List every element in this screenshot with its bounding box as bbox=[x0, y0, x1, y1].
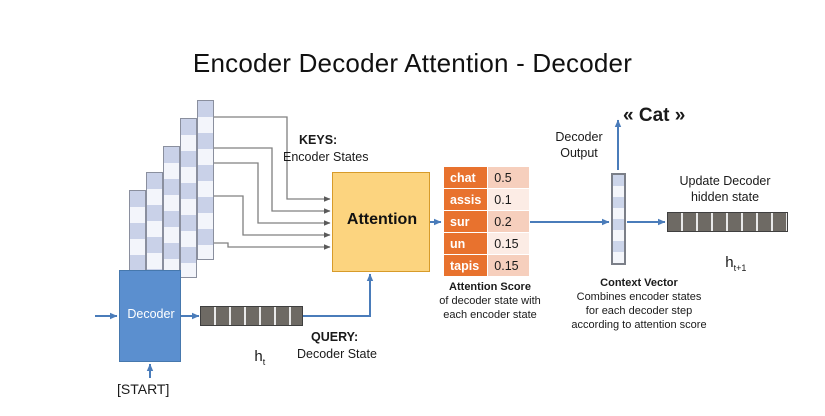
attention-block[interactable]: Attention bbox=[332, 172, 430, 272]
hidden-state-ht-label: ht bbox=[200, 330, 303, 385]
attention-score-caption-line2: of decoder state with bbox=[410, 295, 570, 308]
hidden-state-ht1-label: ht+1 bbox=[667, 236, 788, 291]
output-token-label: « Cat » bbox=[623, 105, 685, 127]
hidden-state-ht1-subscript: t+1 bbox=[734, 263, 747, 273]
context-vector-caption-line2: Combines encoder states bbox=[549, 291, 729, 304]
score-token: tapis bbox=[444, 255, 488, 277]
table-row: chat 0.5 bbox=[444, 167, 530, 189]
encoder-state-vector bbox=[197, 100, 214, 260]
score-token: un bbox=[444, 233, 488, 255]
hidden-state-vector-ht1 bbox=[667, 212, 788, 232]
encoder-state-vector bbox=[180, 118, 197, 278]
decoder-block-label: Decoder bbox=[120, 307, 182, 321]
query-label-subtitle: Decoder State bbox=[297, 347, 377, 362]
score-value: 0.15 bbox=[488, 255, 530, 277]
attention-block-label: Attention bbox=[333, 211, 431, 229]
attention-score-table: chat 0.5 assis 0.1 sur 0.2 un 0.15 tapis… bbox=[443, 166, 530, 277]
diagram-canvas: Encoder Decoder Attention - Decoder bbox=[0, 0, 825, 416]
score-value: 0.5 bbox=[488, 167, 530, 189]
hidden-state-ht-symbol: h bbox=[254, 348, 262, 365]
table-row: assis 0.1 bbox=[444, 189, 530, 211]
decoder-output-label-line2: Output bbox=[548, 146, 610, 161]
update-decoder-label-line1: Update Decoder bbox=[645, 174, 805, 189]
hidden-state-ht1-symbol: h bbox=[725, 254, 733, 271]
keys-label-title: KEYS: bbox=[299, 133, 337, 148]
score-token: sur bbox=[444, 211, 488, 233]
attention-score-caption-line3: each encoder state bbox=[410, 309, 570, 322]
hidden-state-ht-subscript: t bbox=[263, 357, 266, 367]
score-token: chat bbox=[444, 167, 488, 189]
table-row: tapis 0.15 bbox=[444, 255, 530, 277]
arrow-query-to-attention bbox=[302, 274, 370, 316]
score-value: 0.15 bbox=[488, 233, 530, 255]
context-vector-caption-line4: according to attention score bbox=[549, 319, 729, 332]
score-token: assis bbox=[444, 189, 488, 211]
decoder-output-label-line1: Decoder bbox=[548, 130, 610, 145]
keys-label-subtitle: Encoder States bbox=[283, 150, 368, 165]
update-decoder-label-line2: hidden state bbox=[645, 190, 805, 205]
query-label-title: QUERY: bbox=[311, 330, 358, 345]
decoder-block[interactable]: Decoder bbox=[119, 270, 181, 362]
attention-score-caption-title: Attention Score bbox=[410, 281, 570, 294]
context-vector bbox=[611, 173, 626, 265]
hidden-state-vector-ht bbox=[200, 306, 303, 326]
score-value: 0.2 bbox=[488, 211, 530, 233]
start-token-label: [START] bbox=[117, 381, 169, 398]
score-value: 0.1 bbox=[488, 189, 530, 211]
context-vector-caption-line3: for each decoder step bbox=[549, 305, 729, 318]
table-row: sur 0.2 bbox=[444, 211, 530, 233]
table-row: un 0.15 bbox=[444, 233, 530, 255]
page-title: Encoder Decoder Attention - Decoder bbox=[0, 48, 825, 79]
